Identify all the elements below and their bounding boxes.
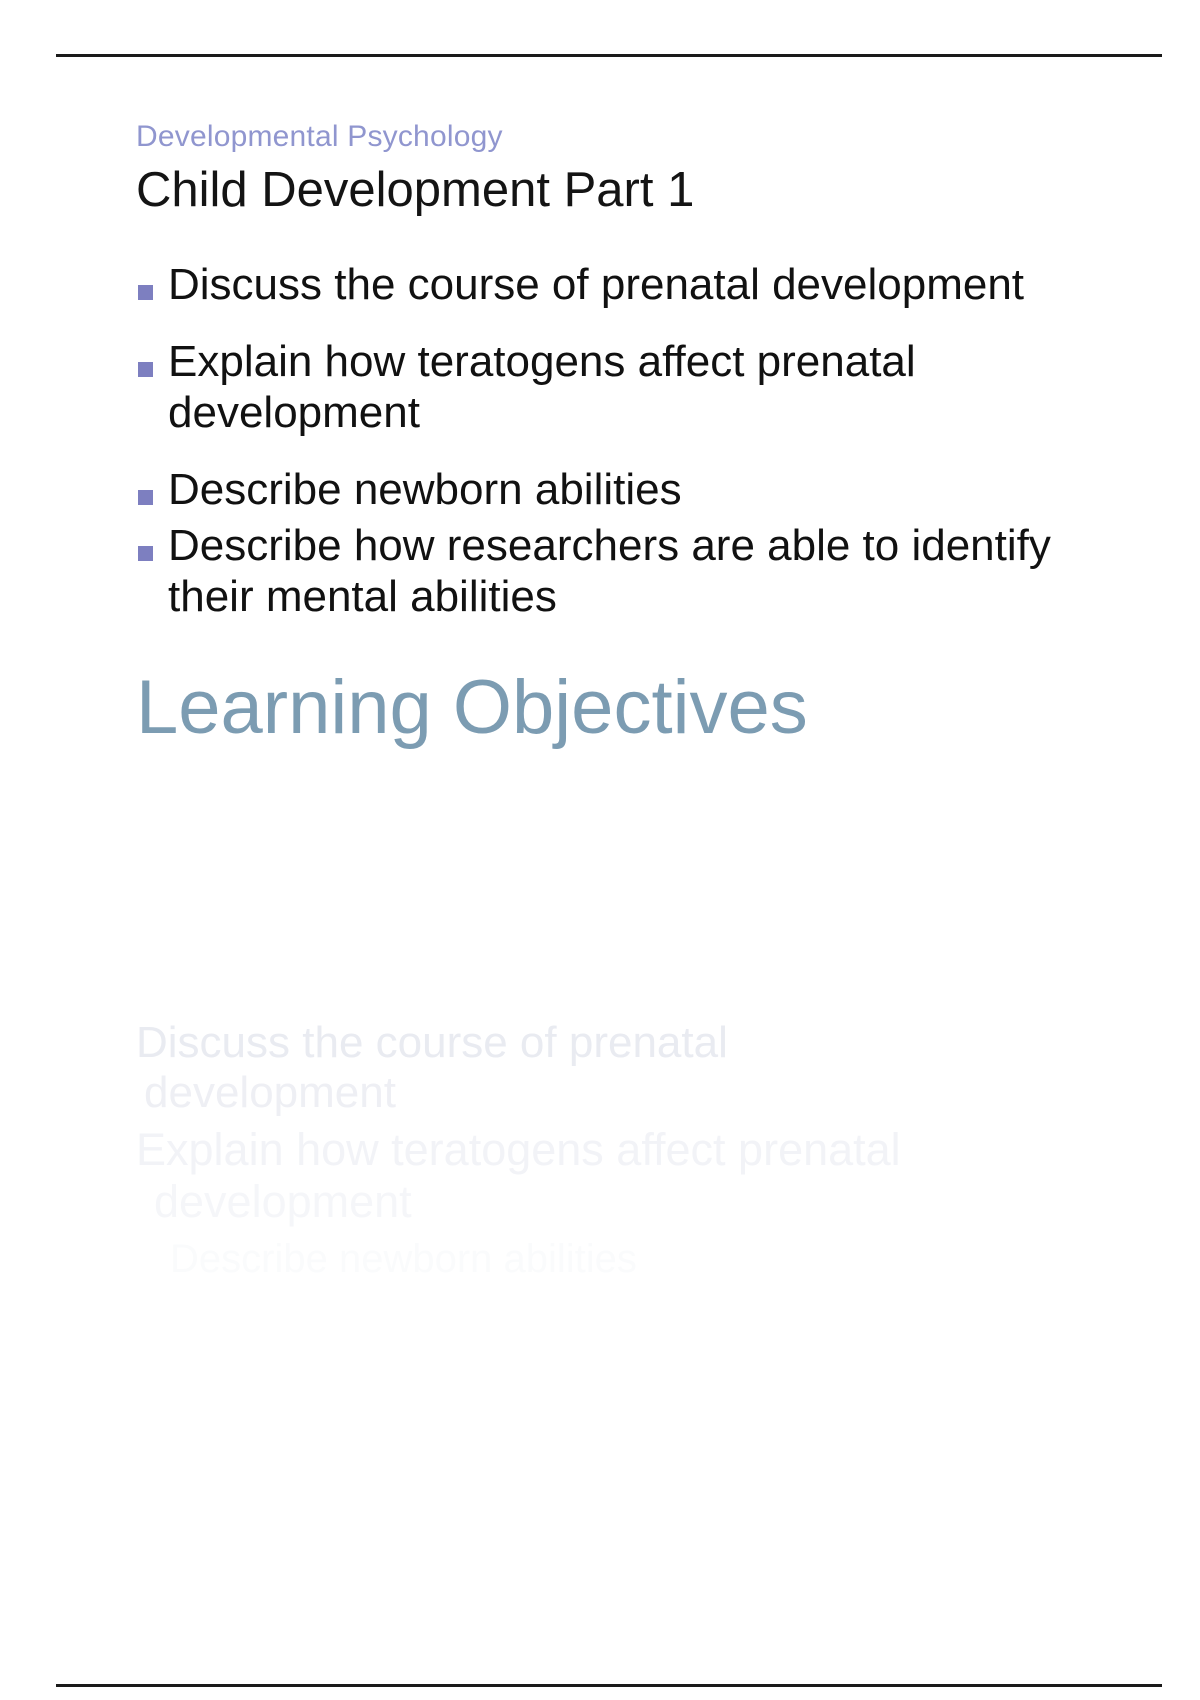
ghost-text-line: Describe newborn abilities bbox=[170, 1237, 1146, 1283]
page-rule-top bbox=[56, 54, 1162, 57]
faded-placeholder-layer: Discuss the course of prenatal developme… bbox=[136, 1018, 1146, 1283]
list-item: Explain how teratogens affect prenatal d… bbox=[136, 336, 1096, 438]
list-item-label: Explain how teratogens affect prenatal d… bbox=[136, 336, 1096, 438]
ghost-text-line: Explain how teratogens affect prenatal bbox=[136, 1124, 1146, 1175]
square-bullet-icon bbox=[138, 285, 153, 300]
ghost-text-line: development bbox=[144, 1068, 1146, 1118]
list-item: Discuss the course of prenatal developme… bbox=[136, 259, 1096, 310]
slide-eyebrow: Developmental Psychology bbox=[136, 120, 1096, 155]
square-bullet-icon bbox=[138, 546, 153, 561]
square-bullet-icon bbox=[138, 362, 153, 377]
square-bullet-icon bbox=[138, 490, 153, 505]
document-page: Developmental Psychology Child Developme… bbox=[0, 0, 1200, 1700]
slide-title: Child Development Part 1 bbox=[136, 163, 1096, 218]
list-item: Describe newborn abilities bbox=[136, 464, 1096, 515]
section-heading: Learning Objectives bbox=[136, 668, 1096, 748]
list-item-label: Describe newborn abilities bbox=[136, 464, 1096, 515]
ghost-text-line: Discuss the course of prenatal bbox=[136, 1018, 1146, 1068]
slide-content: Developmental Psychology Child Developme… bbox=[136, 120, 1096, 747]
ghost-text-line: development bbox=[154, 1176, 1146, 1227]
list-item: Describe how researchers are able to ide… bbox=[136, 520, 1096, 622]
objectives-list: Discuss the course of prenatal developme… bbox=[136, 259, 1096, 621]
page-rule-bottom bbox=[56, 1684, 1162, 1687]
list-item-label: Discuss the course of prenatal developme… bbox=[136, 259, 1096, 310]
list-item-label: Describe how researchers are able to ide… bbox=[136, 520, 1096, 622]
